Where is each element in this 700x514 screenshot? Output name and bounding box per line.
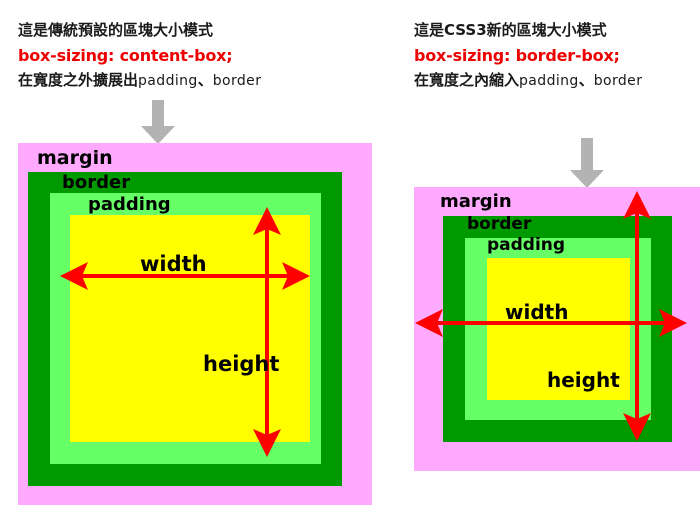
caption-right-line3-sep: 、 bbox=[579, 71, 594, 89]
label-width: width bbox=[505, 300, 568, 324]
label-height: height bbox=[547, 368, 620, 392]
label-margin: margin bbox=[37, 147, 113, 169]
arrow-head bbox=[570, 170, 604, 188]
caption-left-line1: 這是傳統預設的區塊大小模式 bbox=[18, 18, 261, 43]
caption-content-box: 這是傳統預設的區塊大小模式 box-sizing: content-box; 在… bbox=[18, 18, 261, 94]
label-width: width bbox=[140, 252, 207, 276]
caption-left-code: box-sizing: content-box; bbox=[18, 43, 261, 68]
height-dimension-arrow bbox=[619, 191, 655, 441]
label-border: border bbox=[467, 214, 531, 234]
arrow-head bbox=[141, 126, 175, 144]
caption-right-line1: 這是CSS3新的區塊大小模式 bbox=[414, 18, 642, 43]
caption-right-line3-padding: padding bbox=[519, 73, 579, 89]
caption-left-line3: 在寬度之外擴展出padding、border bbox=[18, 68, 261, 94]
caption-right-line3: 在寬度之內縮入padding、border bbox=[414, 68, 642, 94]
height-dimension-arrow bbox=[249, 207, 285, 457]
arrow-shaft bbox=[581, 138, 593, 172]
caption-left-line3-border: border bbox=[213, 73, 262, 89]
caption-left-line3-cjk: 在寬度之外擴展出 bbox=[18, 71, 138, 89]
caption-right-code: box-sizing: border-box; bbox=[414, 43, 642, 68]
caption-right-line3-cjk: 在寬度之內縮入 bbox=[414, 71, 519, 89]
arrow-shaft bbox=[152, 100, 164, 128]
caption-left-line3-padding: padding bbox=[138, 73, 198, 89]
label-height: height bbox=[203, 352, 279, 376]
label-padding: padding bbox=[487, 235, 565, 255]
arrow-down-icon bbox=[140, 100, 176, 144]
caption-right-line3-border: border bbox=[594, 73, 643, 89]
arrow-down-icon bbox=[569, 138, 605, 188]
label-padding: padding bbox=[88, 194, 171, 215]
label-border: border bbox=[62, 172, 130, 193]
label-margin: margin bbox=[440, 191, 512, 212]
caption-left-line3-sep: 、 bbox=[198, 71, 213, 89]
caption-border-box: 這是CSS3新的區塊大小模式 box-sizing: border-box; 在… bbox=[414, 18, 642, 94]
